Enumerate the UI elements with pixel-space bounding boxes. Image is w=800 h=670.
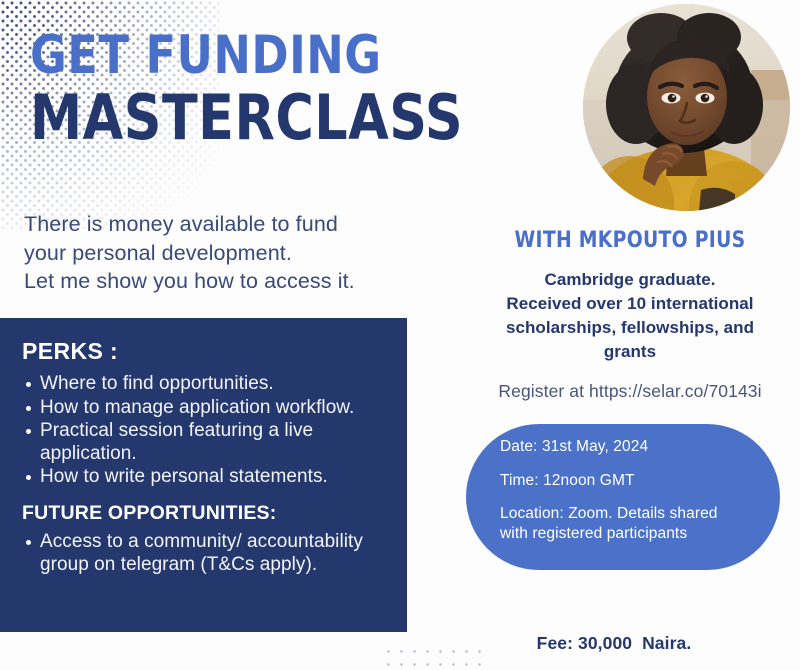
future-opportunities-list: Access to a community/ accountability gr… <box>18 531 390 576</box>
registration-link[interactable]: Register at https://selar.co/70143i <box>462 381 798 402</box>
fee-line-1: Fee: 30,000 Naira. <box>430 632 798 656</box>
speaker-bio-line-2: Received over 10 international <box>462 292 798 316</box>
subheadline-line-3: Let me show you how to access it. <box>24 267 454 296</box>
event-time: Time: 12noon GMT <box>500 471 762 491</box>
perks-title: PERKS : <box>22 338 390 365</box>
subheadline-line-1: There is money available to fund <box>24 210 454 239</box>
speaker-bio-line-1: Cambridge graduate. <box>462 268 798 292</box>
headline-line-1: GET FUNDING <box>30 32 463 81</box>
future-opportunities-title: FUTURE OPPORTUNITIES: <box>22 502 390 525</box>
subheadline-block: There is money available to fund your pe… <box>24 210 454 296</box>
list-item: How to manage application workflow. <box>40 397 390 420</box>
event-location: Location: Zoom. Details shared with regi… <box>500 504 762 543</box>
speaker-bio: Cambridge graduate. Received over 10 int… <box>462 268 798 364</box>
event-details-content: Date: 31st May, 2024 Time: 12noon GMT Lo… <box>500 437 762 543</box>
speaker-name: WITH MKPOUTO PIUS <box>478 228 782 253</box>
event-date: Date: 31st May, 2024 <box>500 437 762 457</box>
list-item: Where to find opportunities. <box>40 373 390 396</box>
list-item: Practical session featuring a live appli… <box>40 420 390 465</box>
headline-line-2: MASTERCLASS <box>30 89 463 146</box>
perks-panel: PERKS : Where to find opportunities. How… <box>0 318 407 632</box>
event-location-line-2: with registered participants <box>500 524 762 544</box>
list-item: How to write personal statements. <box>40 466 390 489</box>
event-location-line-1: Location: Zoom. Details shared <box>500 504 762 524</box>
flyer-canvas: GET FUNDING MASTERCLASS There is money a… <box>0 0 800 670</box>
avatar <box>583 4 790 211</box>
fee-block: Fee: 30,000 Naira. Early birds pay 20,00… <box>430 584 798 670</box>
portrait-illustration <box>583 4 790 211</box>
subheadline-line-2: your personal development. <box>24 239 454 268</box>
perks-panel-content: PERKS : Where to find opportunities. How… <box>0 318 400 632</box>
speaker-bio-line-3: scholarships, fellowships, and <box>462 316 798 340</box>
perks-list: Where to find opportunities. How to mana… <box>18 373 390 489</box>
list-item: Access to a community/ accountability gr… <box>40 531 390 576</box>
speaker-bio-line-4: grants <box>462 340 798 364</box>
headline-block: GET FUNDING MASTERCLASS <box>30 32 491 146</box>
